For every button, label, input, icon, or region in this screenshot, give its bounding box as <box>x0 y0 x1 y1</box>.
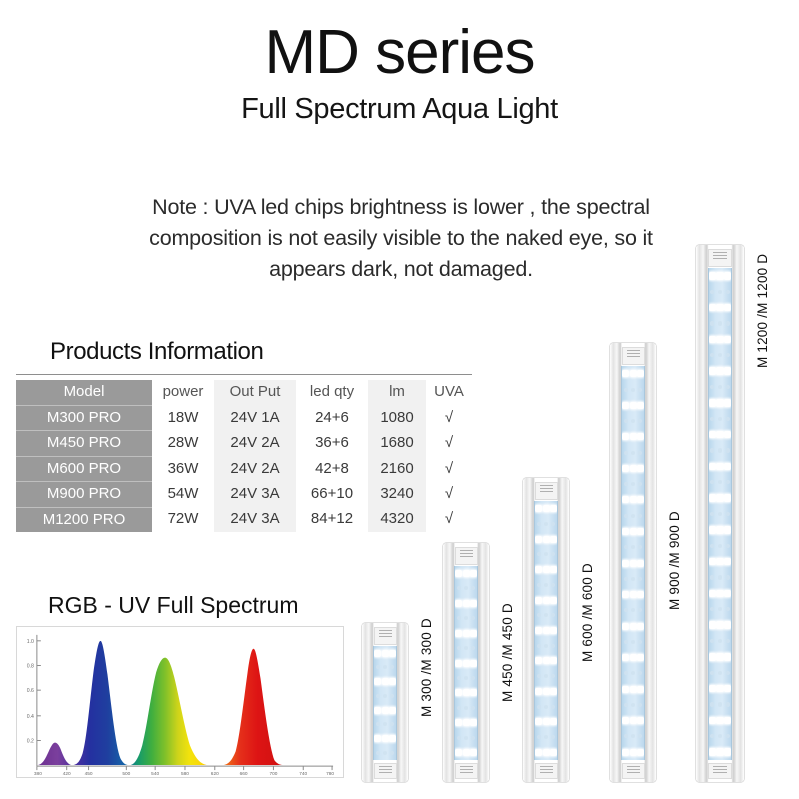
led-dot <box>718 607 722 611</box>
led-dot <box>551 735 555 739</box>
cell-uva: √ <box>426 507 472 532</box>
led-dot <box>622 465 629 472</box>
led-dot <box>709 336 717 344</box>
led-dot <box>709 463 717 471</box>
led-dot <box>710 671 714 675</box>
led-dot <box>724 399 732 407</box>
led-dot <box>624 482 628 486</box>
lamp-top-sticker <box>374 627 397 645</box>
led-dot <box>471 646 475 650</box>
led-dot <box>550 505 557 512</box>
svg-text:540: 540 <box>151 771 159 777</box>
led-dot <box>624 451 628 455</box>
led-dot <box>716 653 724 661</box>
led-dot <box>624 514 628 518</box>
led-dot <box>631 671 635 675</box>
led-dot <box>374 735 381 742</box>
svg-text:620: 620 <box>211 771 219 777</box>
led-dot <box>726 639 730 643</box>
led-dot <box>543 597 550 604</box>
led-dot <box>470 630 477 637</box>
cell-led-qty: 66+10 <box>296 482 368 508</box>
led-dot <box>457 676 461 680</box>
led-dot <box>724 272 732 280</box>
led-dot <box>710 544 714 548</box>
led-dot <box>463 689 470 696</box>
led-dot <box>543 718 550 725</box>
led-array <box>455 566 477 760</box>
led-dot <box>622 686 629 693</box>
led-dot <box>544 705 548 709</box>
led-dot <box>535 627 542 634</box>
led-dot <box>455 630 462 637</box>
led-dot <box>622 433 629 440</box>
svg-text:580: 580 <box>181 771 189 777</box>
led-dot <box>630 591 637 598</box>
led-dot <box>544 644 548 648</box>
led-panel <box>621 366 645 760</box>
cell-led-qty: 42+8 <box>296 456 368 482</box>
y-axis-tick-labels: 1.0 0.8 0.6 0.4 0.2 <box>27 639 34 745</box>
section-divider <box>16 374 472 375</box>
column-header-power: power <box>152 380 214 405</box>
table-row: M900 PRO 54W 24V 3A 66+10 3240 √ <box>16 482 472 508</box>
cell-uva: √ <box>426 456 472 482</box>
led-dot <box>535 566 542 573</box>
cell-uva: √ <box>426 431 472 457</box>
led-dot <box>463 600 470 607</box>
led-dot <box>624 545 628 549</box>
led-dot <box>710 702 714 706</box>
products-information-title: Products Information <box>50 338 263 366</box>
led-dot <box>724 685 732 693</box>
led-panel <box>454 566 478 760</box>
cell-power: 36W <box>152 456 214 482</box>
led-array <box>374 646 396 760</box>
led-dot <box>535 657 542 664</box>
lamp-bottom-sticker <box>622 763 645 779</box>
led-dot <box>383 751 387 755</box>
led-dot <box>718 417 722 421</box>
led-dot <box>637 717 644 724</box>
led-dot <box>457 706 461 710</box>
led-dot <box>544 613 548 617</box>
page-title: MD series <box>0 22 799 84</box>
cell-led-qty: 84+12 <box>296 507 368 532</box>
led-array <box>622 366 644 760</box>
led-dot <box>537 522 541 526</box>
led-dot <box>724 463 732 471</box>
led-dot <box>382 650 389 657</box>
led-dot <box>550 718 557 725</box>
led-dot <box>624 419 628 423</box>
led-dot <box>537 552 541 556</box>
led-dot <box>390 751 394 755</box>
lamp-m1200 <box>696 245 744 782</box>
led-dot <box>716 304 724 312</box>
led-dot <box>716 621 724 629</box>
led-dot <box>457 646 461 650</box>
cell-power: 72W <box>152 507 214 532</box>
led-dot <box>724 304 732 312</box>
led-dot <box>637 402 644 409</box>
led-dot <box>376 751 380 755</box>
led-array <box>709 268 732 760</box>
led-dot <box>638 419 642 423</box>
led-dot <box>537 674 541 678</box>
page-subtitle: Full Spectrum Aqua Light <box>0 95 799 124</box>
led-dot <box>390 665 394 669</box>
led-dot <box>724 590 732 598</box>
led-dot <box>455 660 462 667</box>
led-dot <box>631 388 635 392</box>
led-dot <box>630 717 637 724</box>
led-dot <box>624 577 628 581</box>
led-dot <box>550 749 557 756</box>
led-dot <box>724 494 732 502</box>
led-dot <box>630 686 637 693</box>
led-dot <box>709 526 717 534</box>
led-dot <box>716 717 724 725</box>
led-dot <box>374 707 381 714</box>
led-dot <box>726 544 730 548</box>
led-dot <box>543 627 550 634</box>
lamp-top-sticker <box>708 249 732 267</box>
led-dot <box>630 433 637 440</box>
led-dot <box>463 749 470 756</box>
svg-text:660: 660 <box>240 771 248 777</box>
led-dot <box>631 482 635 486</box>
led-dot <box>726 353 730 357</box>
lamp-label-m900: M 900 /M 900 D <box>667 511 682 610</box>
led-dot <box>464 646 468 650</box>
led-dot <box>638 640 642 644</box>
led-dot <box>724 526 732 534</box>
led-dot <box>374 650 381 657</box>
led-dot <box>631 451 635 455</box>
led-dot <box>463 660 470 667</box>
led-dot <box>551 552 555 556</box>
led-dot <box>710 290 714 294</box>
led-dot <box>550 566 557 573</box>
led-dot <box>535 688 542 695</box>
led-dot <box>637 433 644 440</box>
led-dot <box>637 654 644 661</box>
note-text: Note : UVA led chips brightness is lower… <box>108 192 694 285</box>
led-dot <box>470 570 477 577</box>
led-dot <box>463 570 470 577</box>
led-dot <box>376 694 380 698</box>
led-dot <box>624 608 628 612</box>
led-dot <box>718 448 722 452</box>
led-dot <box>470 689 477 696</box>
led-dot <box>624 640 628 644</box>
led-dot <box>383 665 387 669</box>
led-dot <box>630 749 637 756</box>
led-dot <box>724 558 732 566</box>
led-dot <box>471 586 475 590</box>
column-header-uva: UVA <box>426 380 472 405</box>
led-dot <box>710 385 714 389</box>
led-dot <box>726 385 730 389</box>
led-dot <box>622 591 629 598</box>
led-dot <box>709 431 717 439</box>
led-dot <box>710 734 714 738</box>
led-dot <box>537 583 541 587</box>
led-dot <box>638 451 642 455</box>
led-dot <box>631 545 635 549</box>
spectrum-curve-fill <box>37 627 331 766</box>
led-dot <box>638 388 642 392</box>
led-dot <box>716 526 724 534</box>
lamp-body <box>696 245 744 782</box>
table-header-row: Model power Out Put led qty lm UVA <box>16 380 472 405</box>
lamp-label-m1200: M 1200 /M 1200 D <box>755 254 770 368</box>
table-row: M1200 PRO 72W 24V 3A 84+12 4320 √ <box>16 507 472 532</box>
led-dot <box>383 722 387 726</box>
led-dot <box>630 623 637 630</box>
led-dot <box>543 749 550 756</box>
lamp-top-sticker <box>622 347 645 365</box>
led-dot <box>535 505 542 512</box>
led-dot <box>709 590 717 598</box>
cell-output: 24V 3A <box>214 507 296 532</box>
led-panel <box>534 501 558 760</box>
led-dot <box>716 367 724 375</box>
led-dot <box>709 304 717 312</box>
led-dot <box>630 402 637 409</box>
led-dot <box>543 566 550 573</box>
led-dot <box>389 650 396 657</box>
led-dot <box>726 607 730 611</box>
led-dot <box>718 671 722 675</box>
led-dot <box>464 736 468 740</box>
led-dot <box>718 639 722 643</box>
led-dot <box>638 577 642 581</box>
led-dot <box>544 735 548 739</box>
note-line-3: appears dark, not damaged. <box>269 257 533 281</box>
led-dot <box>630 528 637 535</box>
led-dot <box>637 686 644 693</box>
led-dot <box>637 749 644 756</box>
note-line-1: Note : UVA led chips brightness is lower… <box>152 195 650 219</box>
led-dot <box>470 719 477 726</box>
led-dot <box>382 735 389 742</box>
led-dot <box>463 630 470 637</box>
header: MD series Full Spectrum Aqua Light <box>0 22 799 124</box>
led-dot <box>709 367 717 375</box>
cell-lm: 2160 <box>368 456 426 482</box>
led-dot <box>709 685 717 693</box>
led-dot <box>624 388 628 392</box>
led-dot <box>543 505 550 512</box>
led-dot <box>622 496 629 503</box>
led-dot <box>631 419 635 423</box>
led-dot <box>471 706 475 710</box>
led-dot <box>622 370 629 377</box>
lamp-label-m450: M 450 /M 450 D <box>500 603 515 702</box>
led-dot <box>637 370 644 377</box>
led-dot <box>537 735 541 739</box>
led-dot <box>724 431 732 439</box>
led-dot <box>543 688 550 695</box>
led-dot <box>382 707 389 714</box>
led-dot <box>551 583 555 587</box>
lamp-top-sticker <box>455 547 478 565</box>
led-dot <box>709 653 717 661</box>
cell-led-qty: 24+6 <box>296 405 368 431</box>
led-dot <box>637 496 644 503</box>
cell-power: 18W <box>152 405 214 431</box>
led-dot <box>710 639 714 643</box>
lamp-bottom-sticker <box>455 763 478 779</box>
led-dot <box>726 702 730 706</box>
led-dot <box>550 627 557 634</box>
led-dot <box>551 644 555 648</box>
lamp-body <box>523 478 569 782</box>
column-header-model: Model <box>16 380 152 405</box>
cell-output: 24V 2A <box>214 456 296 482</box>
led-dot <box>718 702 722 706</box>
led-dot <box>457 616 461 620</box>
spectrum-chart-title: RGB - UV Full Spectrum <box>48 592 299 619</box>
led-dot <box>724 717 732 725</box>
led-dot <box>464 616 468 620</box>
led-dot <box>383 694 387 698</box>
led-dot <box>637 528 644 535</box>
svg-text:450: 450 <box>85 771 93 777</box>
led-dot <box>630 496 637 503</box>
led-dot <box>631 608 635 612</box>
led-dot <box>543 536 550 543</box>
led-dot <box>710 448 714 452</box>
cell-model: M450 PRO <box>16 431 152 457</box>
column-header-led-qty: led qty <box>296 380 368 405</box>
led-dot <box>710 353 714 357</box>
svg-text:0.4: 0.4 <box>27 714 34 720</box>
led-dot <box>716 431 724 439</box>
led-dot <box>543 657 550 664</box>
led-dot <box>716 336 724 344</box>
products-table: Model power Out Put led qty lm UVA M300 … <box>16 380 472 532</box>
led-dot <box>716 558 724 566</box>
led-dot <box>631 577 635 581</box>
led-dot <box>622 654 629 661</box>
led-dot <box>718 544 722 548</box>
lamp-m900 <box>610 343 656 782</box>
led-dot <box>709 621 717 629</box>
led-dot <box>374 678 381 685</box>
led-dot <box>390 694 394 698</box>
led-dot <box>631 514 635 518</box>
led-dot <box>710 480 714 484</box>
led-dot <box>718 353 722 357</box>
product-infographic: MD series Full Spectrum Aqua Light Note … <box>0 0 799 799</box>
led-dot <box>535 597 542 604</box>
led-dot <box>551 705 555 709</box>
led-dot <box>716 494 724 502</box>
cell-power: 28W <box>152 431 214 457</box>
led-dot <box>718 385 722 389</box>
led-dot <box>638 545 642 549</box>
led-dot <box>718 480 722 484</box>
led-dot <box>631 703 635 707</box>
led-dot <box>537 644 541 648</box>
led-dot <box>638 703 642 707</box>
led-dot <box>535 536 542 543</box>
led-dot <box>710 607 714 611</box>
led-dot <box>716 685 724 693</box>
led-dot <box>389 678 396 685</box>
led-dot <box>718 321 722 325</box>
cell-output: 24V 1A <box>214 405 296 431</box>
led-dot <box>709 272 717 280</box>
led-dot <box>726 671 730 675</box>
led-dot <box>710 321 714 325</box>
led-dot <box>638 734 642 738</box>
note-line-2: composition is not easily visible to the… <box>149 226 653 250</box>
cell-uva: √ <box>426 482 472 508</box>
led-dot <box>622 402 629 409</box>
led-dot <box>550 657 557 664</box>
led-dot <box>622 749 629 756</box>
led-dot <box>718 734 722 738</box>
svg-text:0.2: 0.2 <box>27 738 34 744</box>
cell-lm: 3240 <box>368 482 426 508</box>
svg-text:420: 420 <box>63 771 71 777</box>
led-dot <box>638 608 642 612</box>
cell-output: 24V 3A <box>214 482 296 508</box>
led-dot <box>376 665 380 669</box>
table-row: M450 PRO 28W 24V 2A 36+6 1680 √ <box>16 431 472 457</box>
led-dot <box>550 536 557 543</box>
lamp-body <box>610 343 656 782</box>
led-dot <box>550 597 557 604</box>
led-dot <box>622 528 629 535</box>
led-dot <box>624 734 628 738</box>
led-dot <box>551 522 555 526</box>
led-dot <box>630 654 637 661</box>
svg-text:0.6: 0.6 <box>27 688 34 694</box>
led-dot <box>716 463 724 471</box>
led-dot <box>631 734 635 738</box>
x-axis-tick-labels: 380 420 450 500 540 580 620 660 700 740 … <box>34 771 335 777</box>
led-dot <box>464 676 468 680</box>
led-dot <box>455 600 462 607</box>
led-dot <box>710 512 714 516</box>
cell-model: M300 PRO <box>16 405 152 431</box>
lamp-label-m600: M 600 /M 600 D <box>580 563 595 662</box>
led-dot <box>710 417 714 421</box>
led-dot <box>455 719 462 726</box>
led-dot <box>724 621 732 629</box>
led-dot <box>455 689 462 696</box>
led-dot <box>638 482 642 486</box>
table-row: M300 PRO 18W 24V 1A 24+6 1080 √ <box>16 405 472 431</box>
led-dot <box>455 749 462 756</box>
svg-text:740: 740 <box>299 771 307 777</box>
led-dot <box>455 570 462 577</box>
led-dot <box>630 465 637 472</box>
led-dot <box>716 590 724 598</box>
led-dot <box>622 717 629 724</box>
lamp-body <box>443 543 489 782</box>
table-row: M600 PRO 36W 24V 2A 42+8 2160 √ <box>16 456 472 482</box>
led-dot <box>544 583 548 587</box>
svg-text:500: 500 <box>122 771 130 777</box>
led-dot <box>537 613 541 617</box>
led-dot <box>716 748 724 756</box>
